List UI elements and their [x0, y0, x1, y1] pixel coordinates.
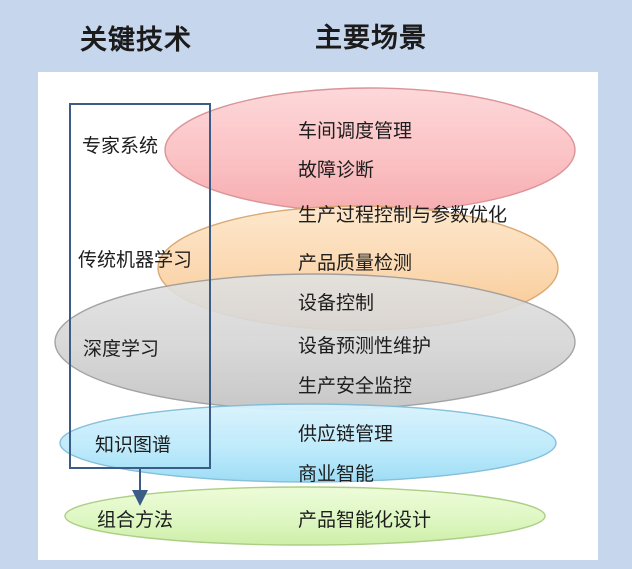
scenario-equipment-control: 设备控制 — [298, 288, 374, 315]
scenario-predictive-maintenance: 设备预测性维护 — [298, 331, 431, 358]
scenario-supply-chain-management: 供应链管理 — [298, 419, 393, 446]
tech-label-deep-learning: 深度学习 — [83, 334, 159, 361]
tech-label-combined-methods: 组合方法 — [97, 505, 173, 532]
scenario-product-quality-inspection: 产品质量检测 — [298, 248, 412, 275]
header-main-scenarios: 主要场景 — [315, 16, 427, 55]
diagram-root: 关键技术 主要场景 — [0, 0, 632, 569]
tech-label-expert-system: 专家系统 — [82, 131, 158, 158]
scenario-production-safety-monitoring: 生产安全监控 — [298, 371, 412, 398]
scenario-process-control-optimization: 生产过程控制与参数优化 — [298, 200, 507, 227]
scenario-business-intelligence: 商业智能 — [298, 459, 374, 486]
scenario-fault-diagnosis: 故障诊断 — [298, 155, 374, 182]
tech-label-knowledge-graph: 知识图谱 — [95, 430, 171, 457]
header-key-technologies: 关键技术 — [80, 18, 192, 57]
scenario-workshop-scheduling: 车间调度管理 — [298, 116, 412, 143]
tech-label-traditional-ml: 传统机器学习 — [78, 245, 192, 272]
scenario-intelligent-product-design: 产品智能化设计 — [298, 505, 431, 532]
